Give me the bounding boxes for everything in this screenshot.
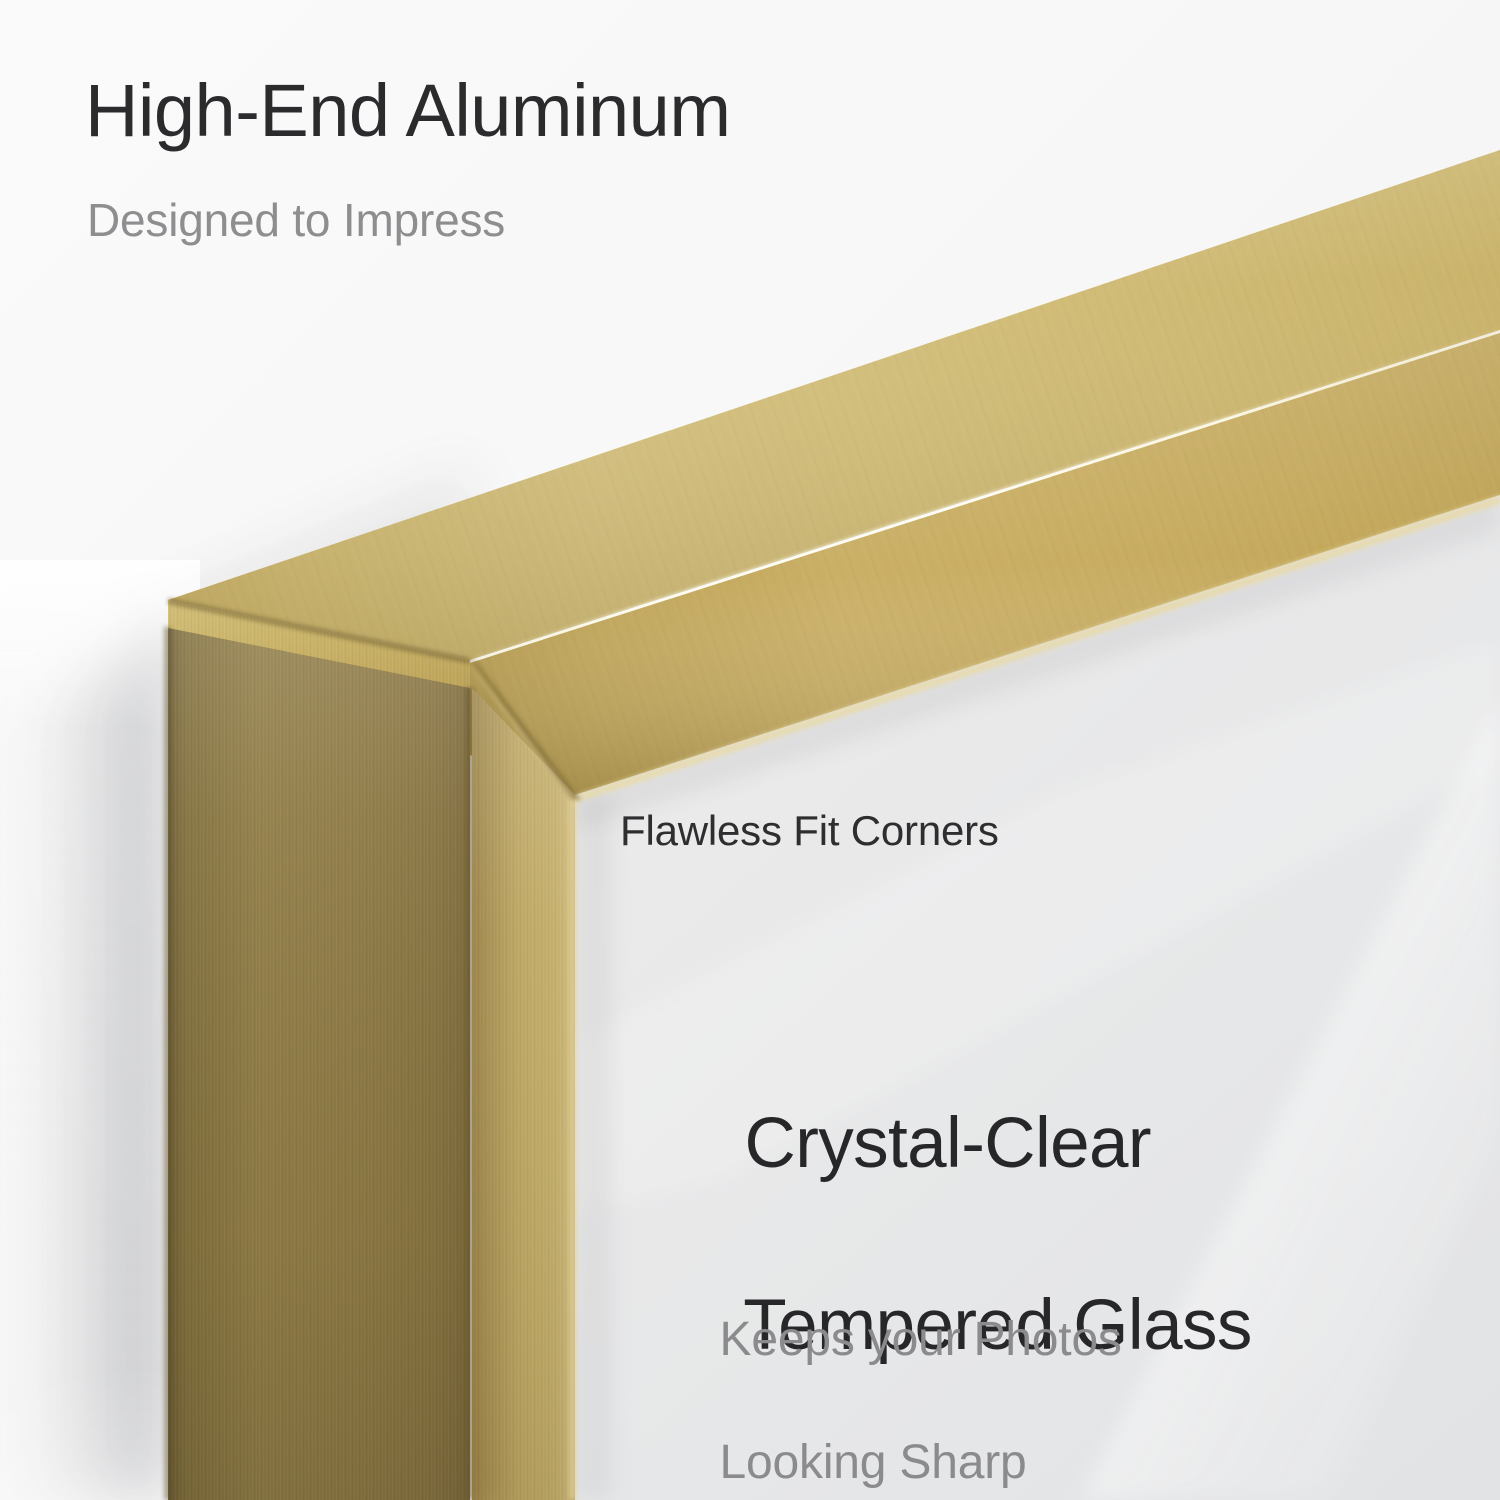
callout-glass-title-line1: Crystal-Clear: [745, 1104, 1151, 1183]
page-title: High-End Aluminum: [85, 74, 730, 148]
callout-glass-subtitle-line2: Looking Sharp: [720, 1436, 1027, 1489]
product-feature-image: High-End Aluminum Designed to Impress Fl…: [0, 0, 1500, 1500]
callout-glass-subtitle-line1: Keeps your Photos: [720, 1313, 1122, 1366]
callout-corner-label: Flawless Fit Corners: [620, 810, 999, 852]
page-subtitle: Designed to Impress: [87, 197, 505, 243]
frame-left-rail-outer-face: [164, 626, 470, 1500]
callout-glass-subtitle: Keeps your Photos Looking Sharp: [667, 1248, 1122, 1500]
corner-occlusion: [470, 660, 500, 1500]
